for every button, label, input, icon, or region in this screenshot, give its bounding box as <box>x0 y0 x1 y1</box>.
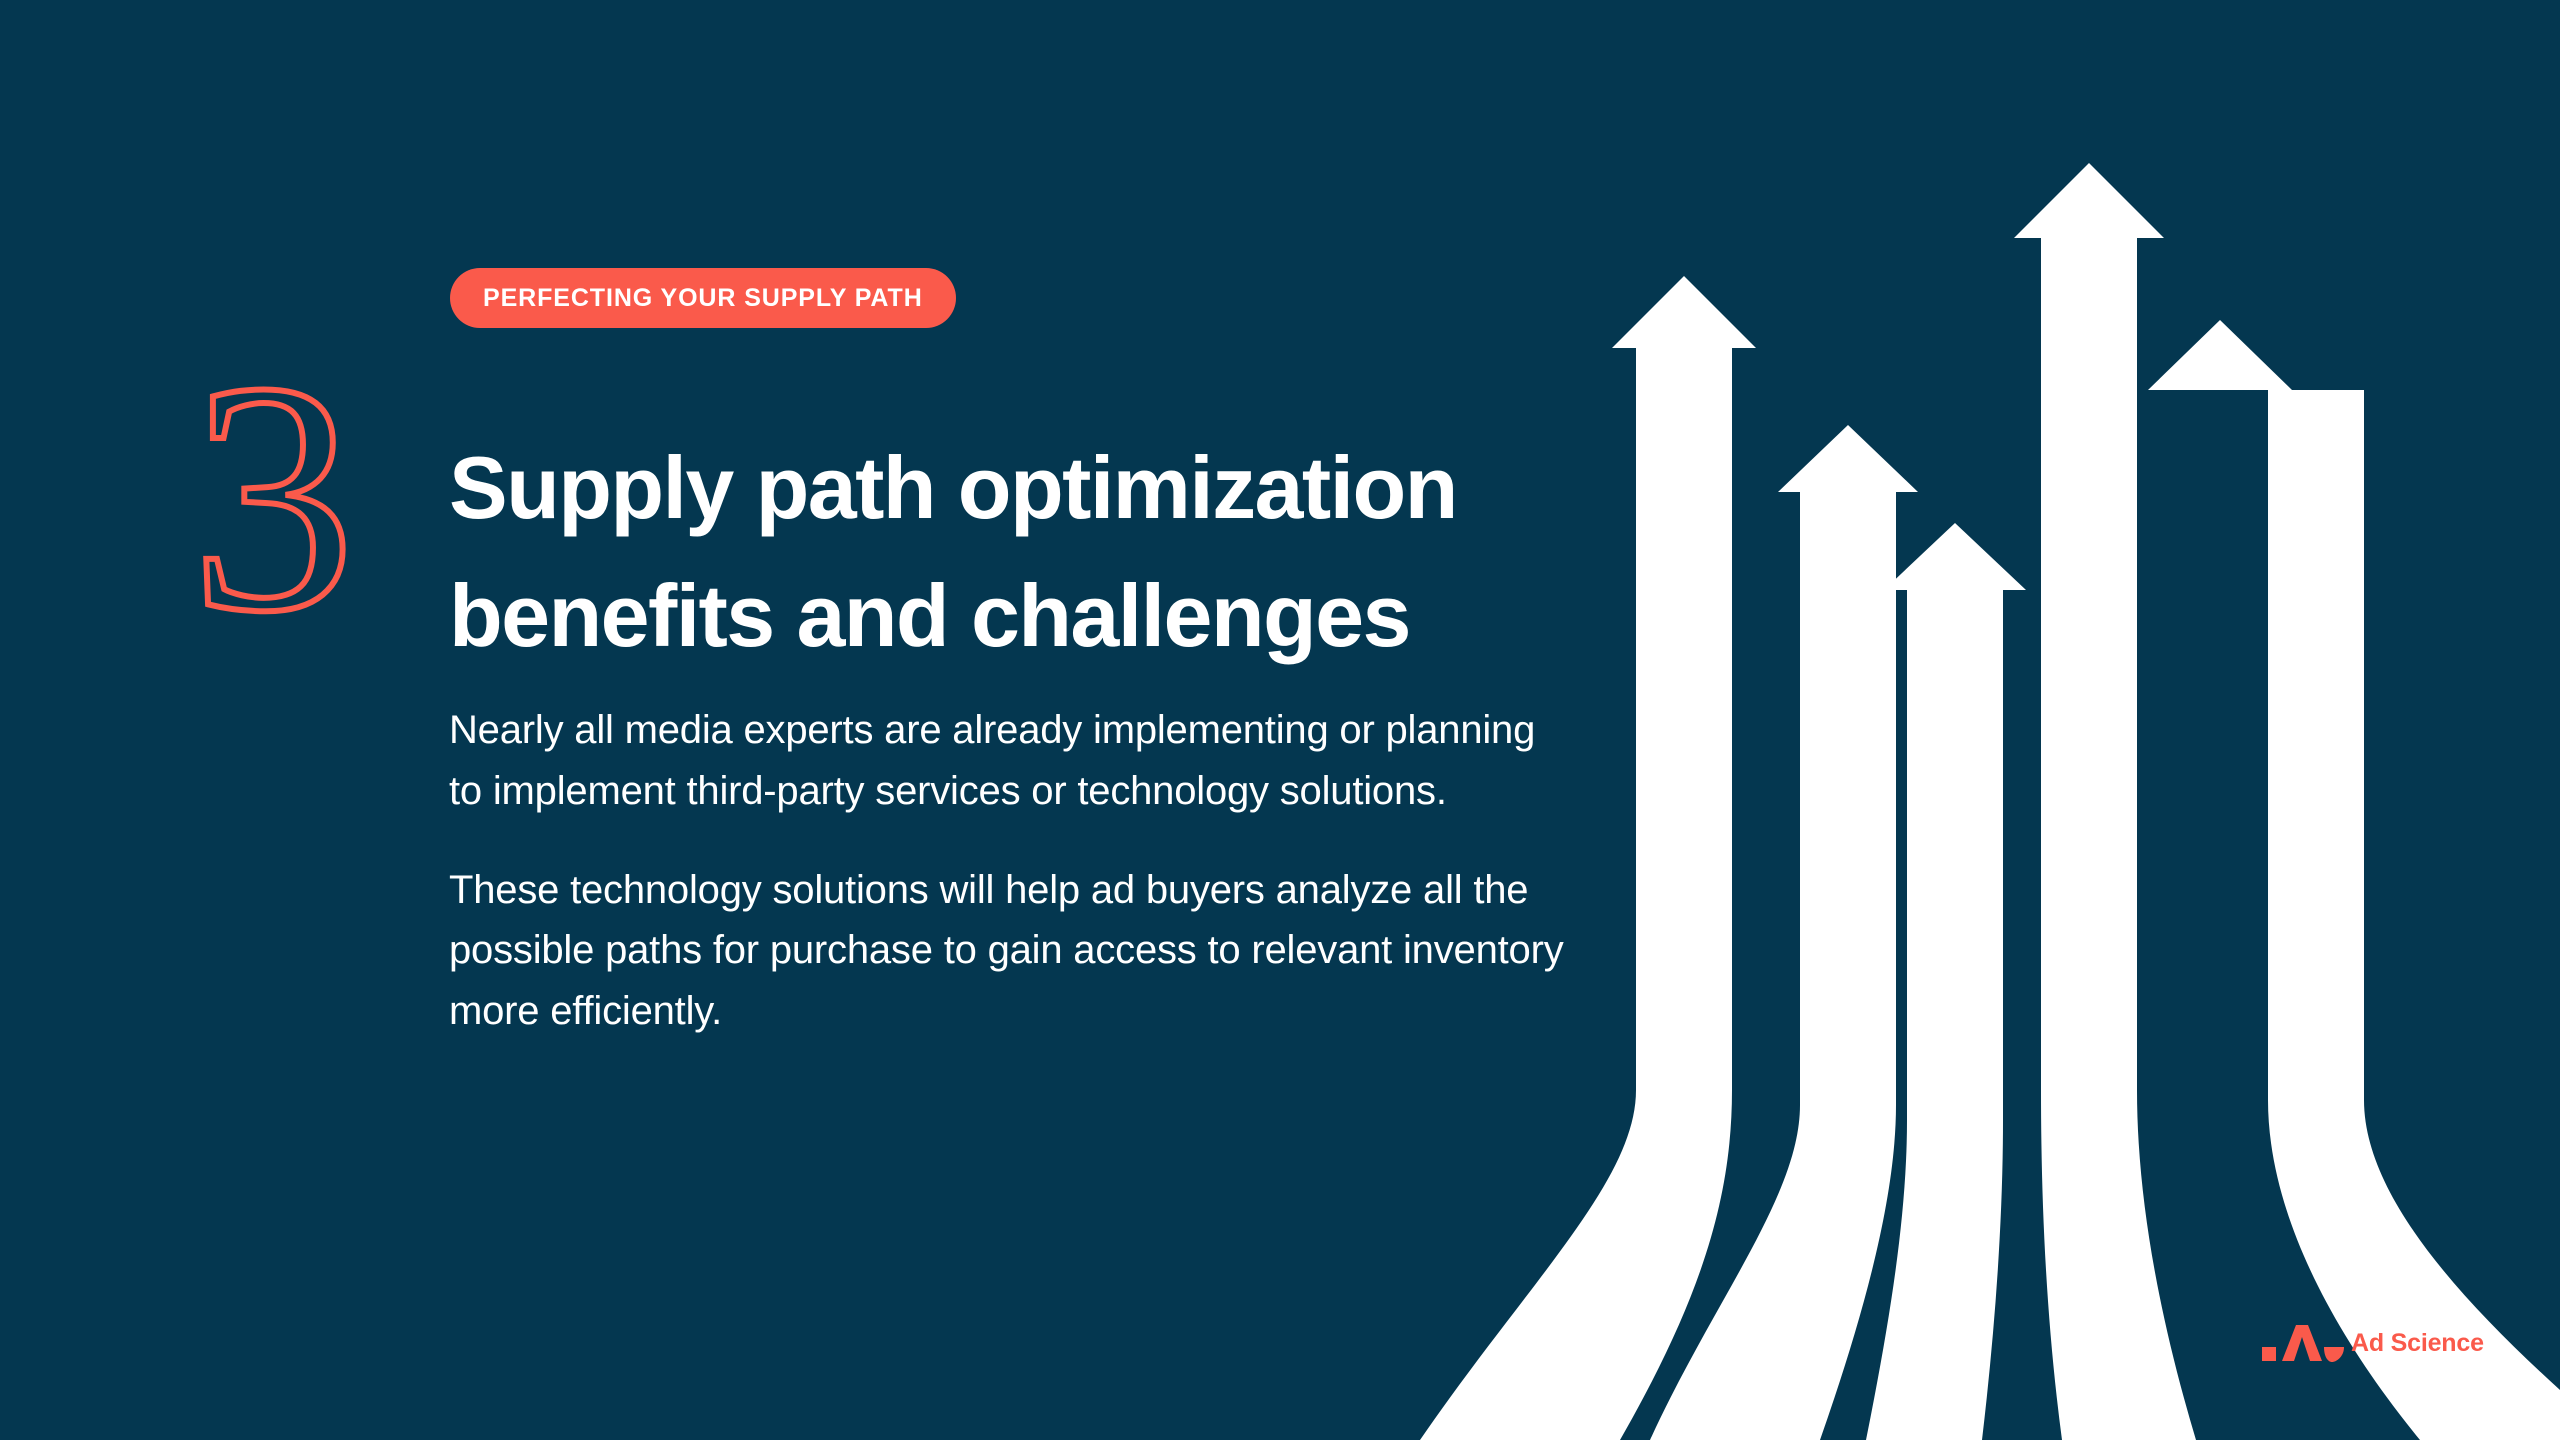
ias-logo-wordmark: Ad Science <box>2351 1331 2484 1356</box>
page-title-line-1: Supply path optimization <box>449 444 1759 532</box>
slide-root: Ad Science PERFECTING YOUR SUPPLY PATH 3… <box>0 0 2560 1440</box>
step-number-glyph: 3 <box>191 356 356 656</box>
step-number-3: 3 <box>188 356 358 656</box>
eyebrow-badge: PERFECTING YOUR SUPPLY PATH <box>450 268 956 328</box>
body-paragraph-2: These technology solutions will help ad … <box>449 860 1569 1042</box>
body-copy: Nearly all media experts are already imp… <box>449 700 1569 1042</box>
page-title: Supply path optimization benefits and ch… <box>449 444 1759 660</box>
page-title-line-2: benefits and challenges <box>449 572 1759 660</box>
body-paragraph-1: Nearly all media experts are already imp… <box>449 700 1569 822</box>
eyebrow-badge-label: PERFECTING YOUR SUPPLY PATH <box>483 286 923 311</box>
ias-logo-mark <box>2262 1323 2344 1363</box>
ias-logo: Ad Science <box>2262 1323 2484 1363</box>
slide-content: PERFECTING YOUR SUPPLY PATH 3 Supply pat… <box>0 0 2560 1440</box>
